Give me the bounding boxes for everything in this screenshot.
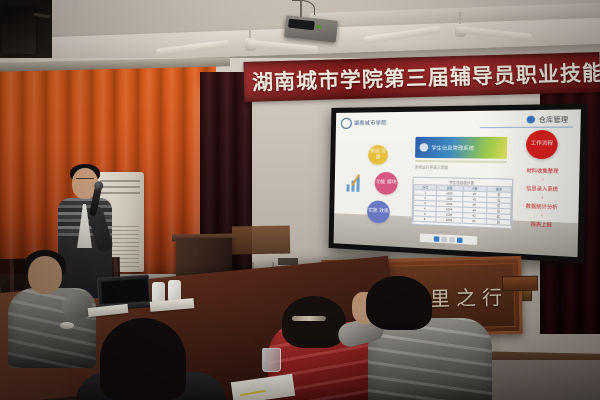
presentation-slide: 湖南城市学院 仓库管理 系统 背景 功能 模块 实施 效果	[334, 109, 581, 223]
flow-arrow-3: ↓	[539, 213, 545, 218]
projection-screen: 湖南城市学院 仓库管理 系统 背景 功能 模块 实施 效果	[329, 104, 588, 264]
hair-clip-icon	[292, 316, 326, 321]
slide-university-logo: 湖南城市学院	[341, 117, 387, 129]
projector-lens-icon	[288, 19, 315, 31]
table-cell: 1006	[436, 217, 462, 223]
logo-ring-icon	[341, 118, 352, 129]
side-cabinet	[232, 225, 290, 254]
grey-puffer-jacket	[368, 318, 492, 400]
attendee-hair	[366, 276, 432, 330]
data-table: 序号班级人数备注 1100145优2100243良3100346优4100444…	[413, 184, 512, 226]
table-cell: 45	[462, 218, 486, 224]
water-glass	[262, 348, 281, 372]
flow-item-2: 信息录入系统	[513, 185, 571, 193]
prev-icon[interactable]	[434, 236, 440, 242]
slide-system-banner: 学生信息管理系统	[415, 137, 507, 159]
computer-mouse	[60, 322, 74, 329]
system-logo-icon	[419, 143, 428, 151]
slide-banner-underline	[415, 160, 507, 163]
slide-workflow-badge: 工作流程	[526, 130, 558, 159]
flow-item-4: 报表上报	[512, 220, 570, 229]
flow-item-3: 数据统计分析	[513, 203, 571, 212]
table-cell: 良	[486, 219, 511, 225]
slide-logo-text: 湖南城市学院	[354, 119, 387, 126]
slide-header-title: 仓库管理	[539, 114, 569, 124]
projection-surface: 湖南城市学院 仓库管理 系统 背景 功能 模块 实施 效果	[334, 109, 581, 257]
slide-data-table: 学生信息统计表 序号班级人数备注 1100145优2100243良3100346…	[412, 177, 514, 230]
glasses-icon	[76, 178, 94, 184]
wall-speaker-icon	[2, 8, 36, 54]
projector-cable	[292, 0, 315, 15]
slide-bubble-modules: 功能 模块	[375, 172, 398, 195]
flow-arrow-1: ↓	[540, 177, 546, 182]
attendee-hair	[282, 296, 346, 348]
flow-arrow-2: ↓	[539, 195, 545, 200]
attendee-head	[28, 256, 62, 294]
bar-chart-icon	[344, 173, 364, 194]
slide-header-underline	[480, 127, 573, 129]
foreground-hair	[100, 318, 186, 400]
projector-led-icon	[316, 25, 321, 30]
slide-header: 仓库管理	[527, 114, 569, 124]
next-icon[interactable]	[457, 237, 463, 243]
slide-header-dot-icon	[527, 116, 536, 124]
photo-scene: 湖南城市学院第三届辅导员职业技能 湖南城市学院 仓库管理	[0, 0, 600, 400]
ceiling-fan-icon	[400, 12, 520, 48]
slide-system-banner-text: 学生信息管理系统	[431, 144, 474, 152]
laptop-screen	[101, 278, 148, 303]
slide-center-note: 系统运行界面示意图	[415, 164, 448, 170]
play-icon[interactable]	[441, 236, 447, 242]
slide-toolbar[interactable]	[420, 233, 478, 244]
flow-item-1: 材料收集整理	[514, 168, 572, 176]
slide-bubble-background: 系统 背景	[368, 145, 388, 165]
table-cell: 6	[413, 216, 436, 222]
slide-bubble-results: 实施 效果	[367, 200, 390, 223]
plaque-side-panel	[502, 276, 538, 292]
menu-icon[interactable]	[449, 237, 455, 243]
